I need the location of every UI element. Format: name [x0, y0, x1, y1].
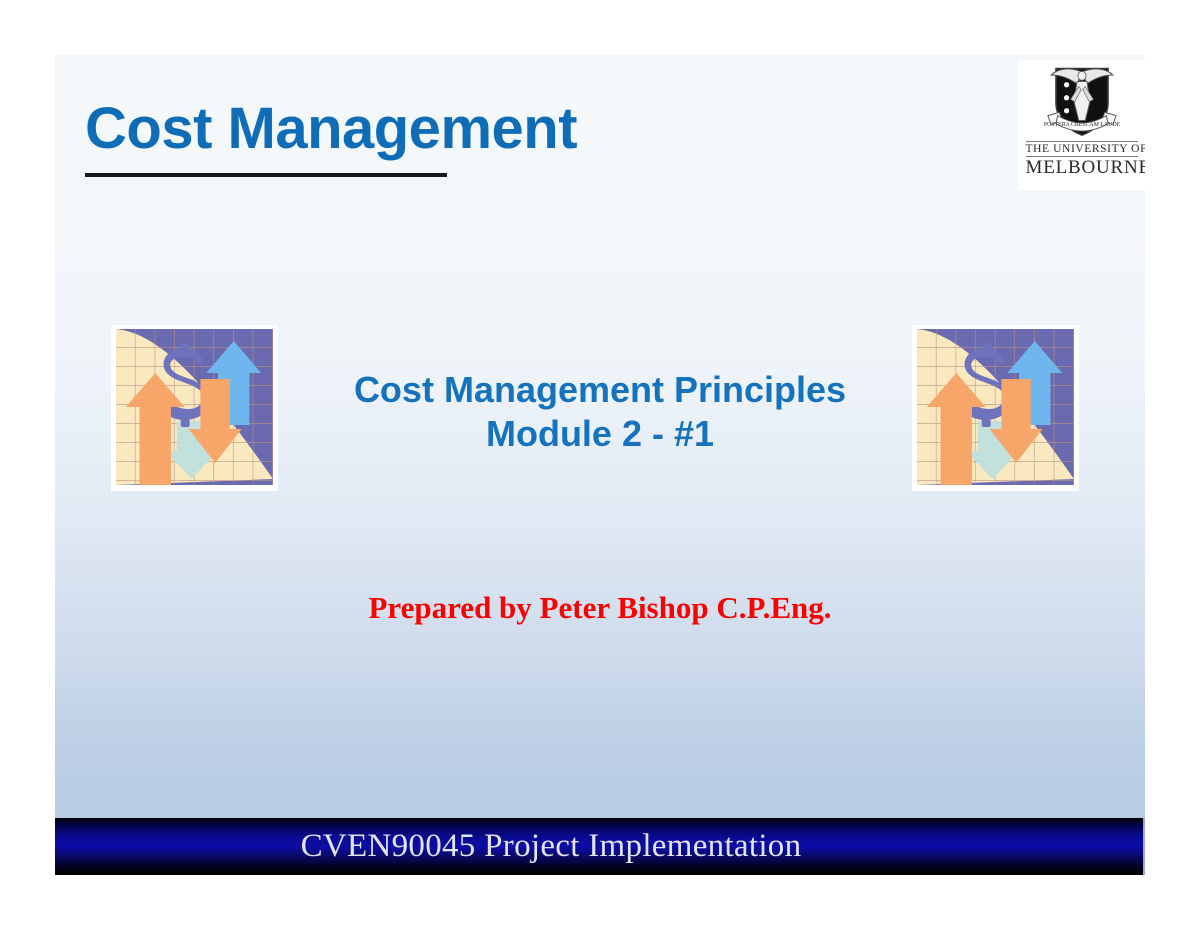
presentation-slide: Cost Management POSTERA CRESC — [55, 55, 1145, 875]
crest-motto: POSTERA CRESCAM LAUDE — [1043, 122, 1120, 128]
subtitle-line-module: Module 2 - #1 — [235, 412, 965, 456]
page-title: Cost Management — [85, 100, 725, 158]
subtitle-block: Cost Management Principles Module 2 - #1 — [235, 368, 965, 456]
winged-victory-crest-icon: POSTERA CRESCAM LAUDE — [1041, 62, 1123, 140]
logo-line-university: THE UNIVERSITY OF — [1026, 141, 1138, 157]
prepared-by-credit: Prepared by Peter Bishop C.P.Eng. — [55, 590, 1145, 626]
logo-line-melbourne: MELBOURNE — [1026, 158, 1138, 179]
footer-bar: CVEN90045 Project Implementation — [55, 818, 1145, 875]
footer-course-title: CVEN90045 Project Implementation — [301, 828, 802, 865]
title-underline-rule — [85, 173, 447, 177]
logo-wordmark: THE UNIVERSITY OF MELBOURNE — [1026, 141, 1138, 179]
university-logo: POSTERA CRESCAM LAUDE THE UNIVERSITY OF … — [1018, 60, 1145, 190]
subtitle-line-principles: Cost Management Principles — [235, 368, 965, 412]
title-block: Cost Management — [85, 100, 725, 158]
